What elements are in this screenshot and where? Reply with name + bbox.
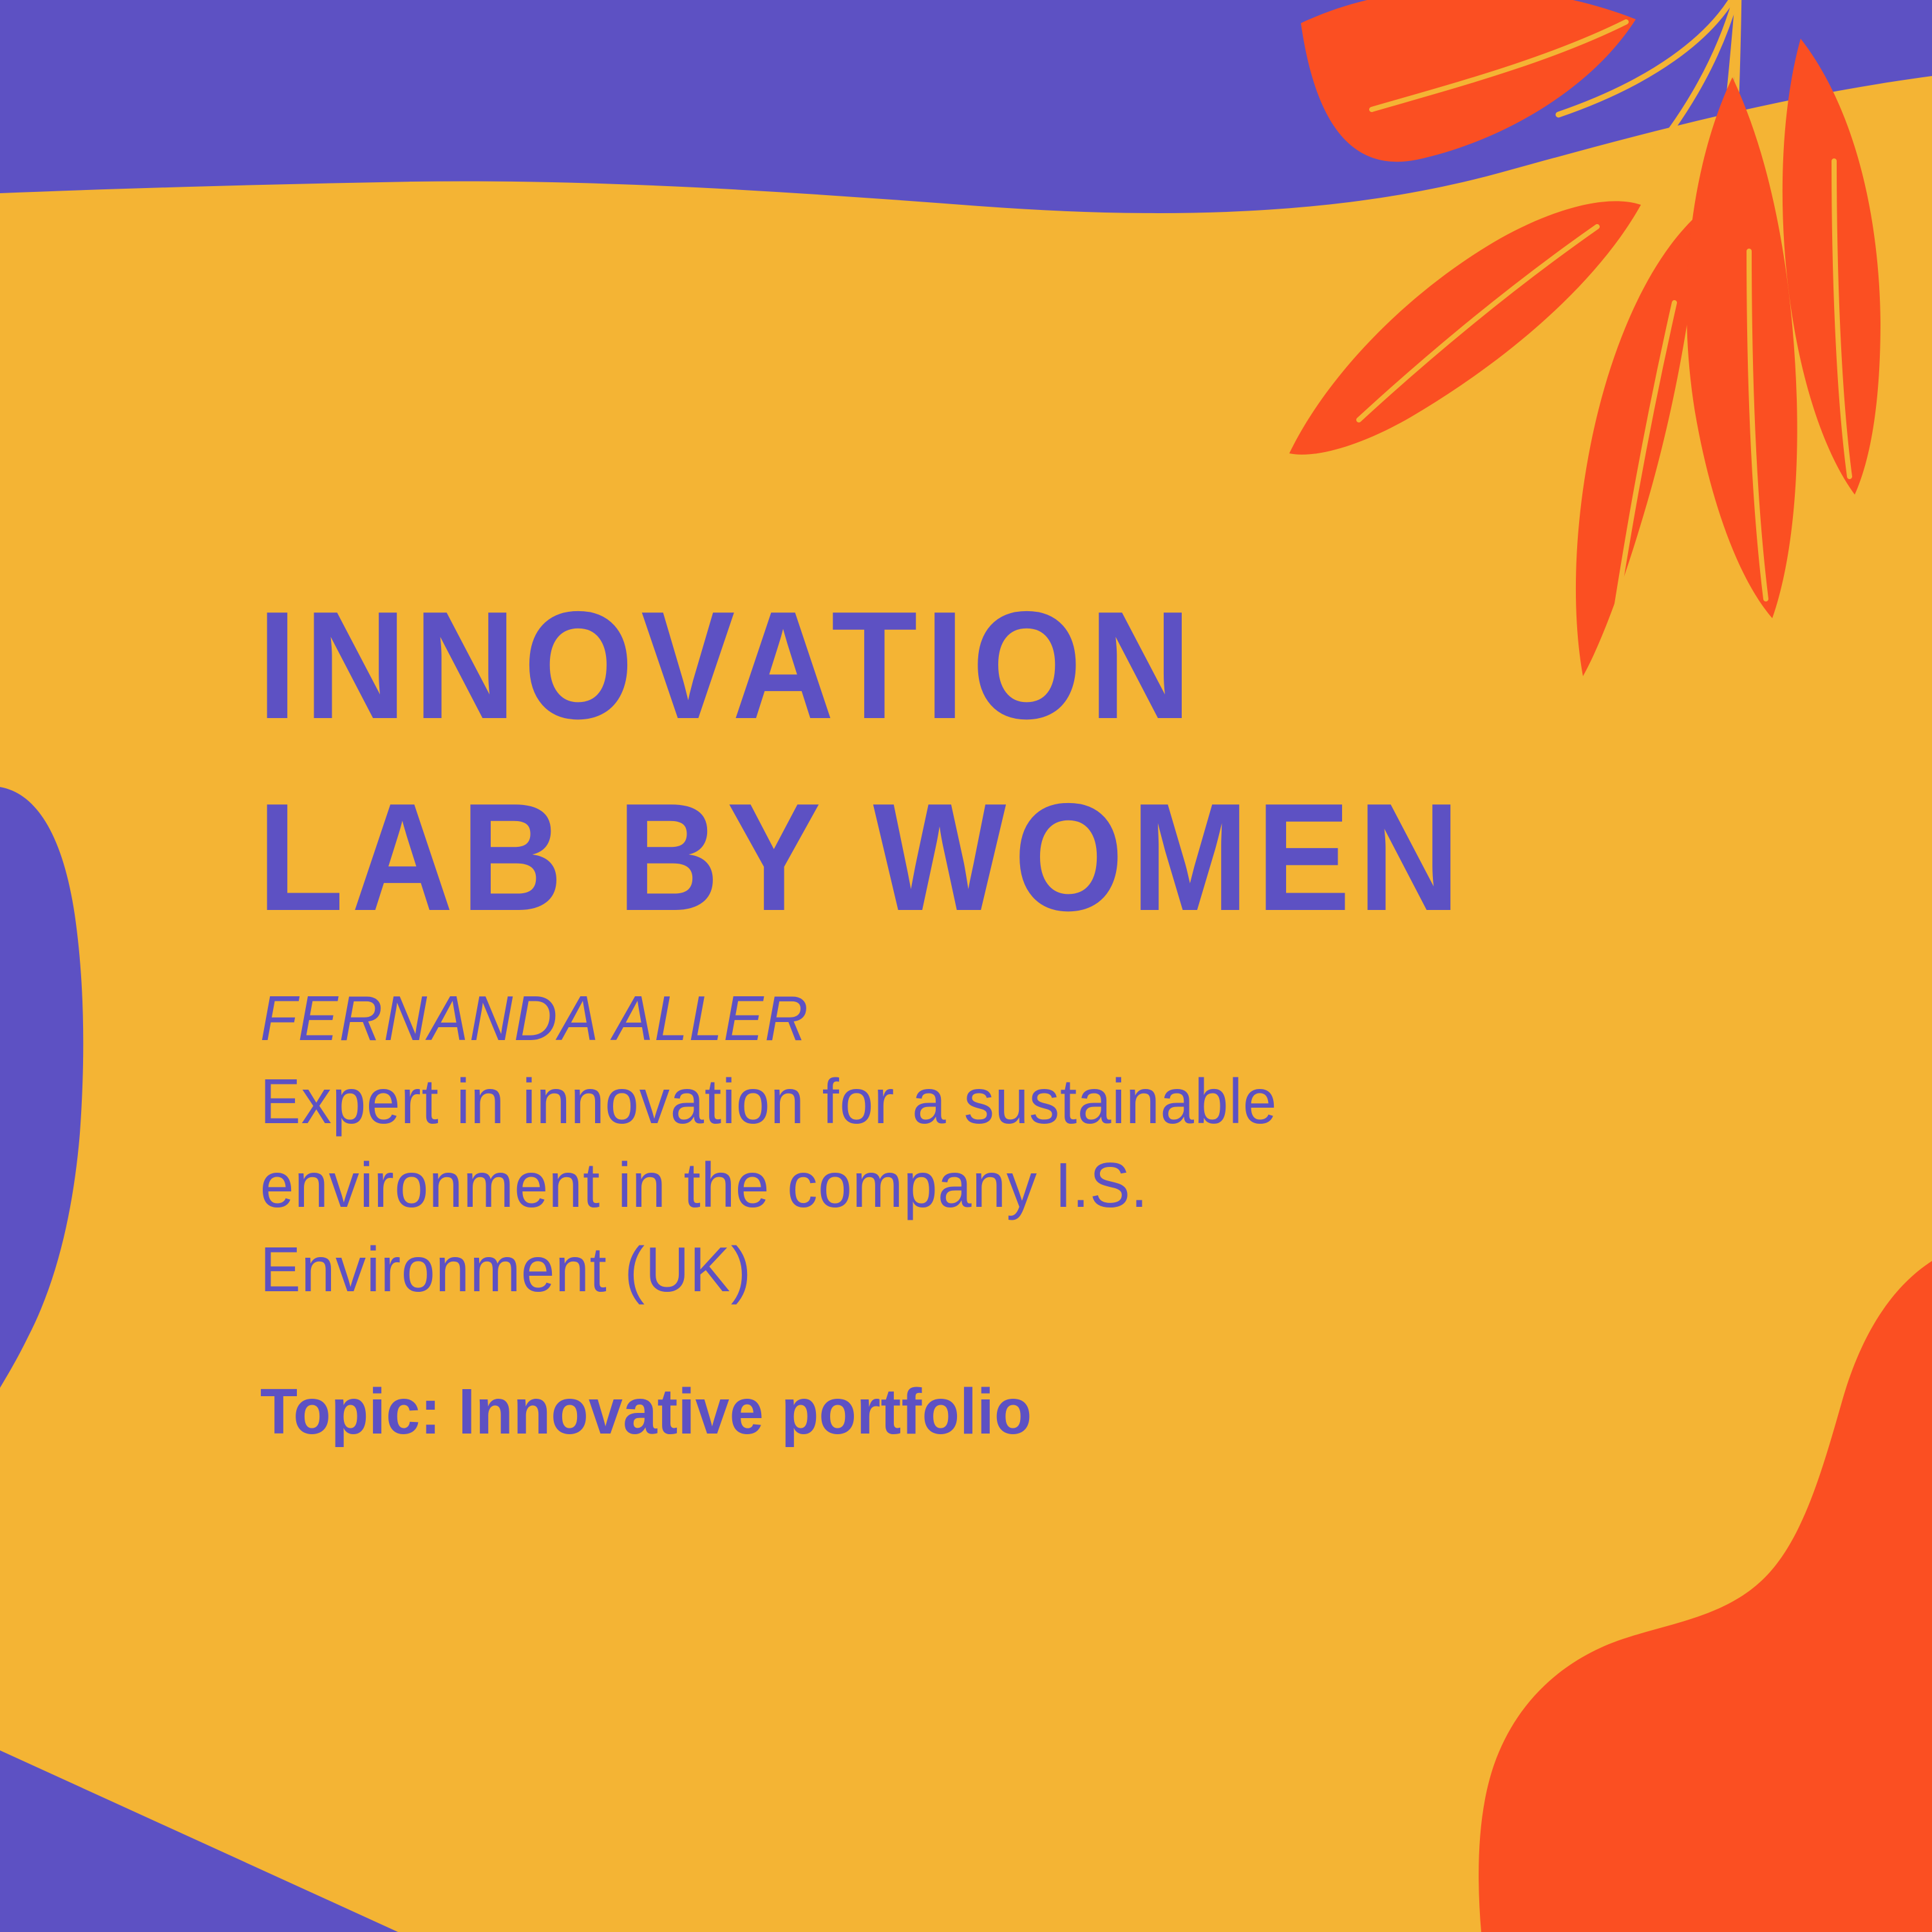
speaker-bio: Expert in innovation for a sustainable e… bbox=[260, 1059, 1373, 1311]
poster-content: Innovation Lab by Women FERNANDA ALLER E… bbox=[0, 0, 1932, 1932]
page-title: Innovation Lab by Women bbox=[258, 570, 1620, 953]
speaker-name: FERNANDA ALLER bbox=[260, 982, 810, 1055]
topic-line: Topic: Innovative portfolio bbox=[260, 1375, 1032, 1449]
event-poster: Innovation Lab by Women FERNANDA ALLER E… bbox=[0, 0, 1932, 1932]
